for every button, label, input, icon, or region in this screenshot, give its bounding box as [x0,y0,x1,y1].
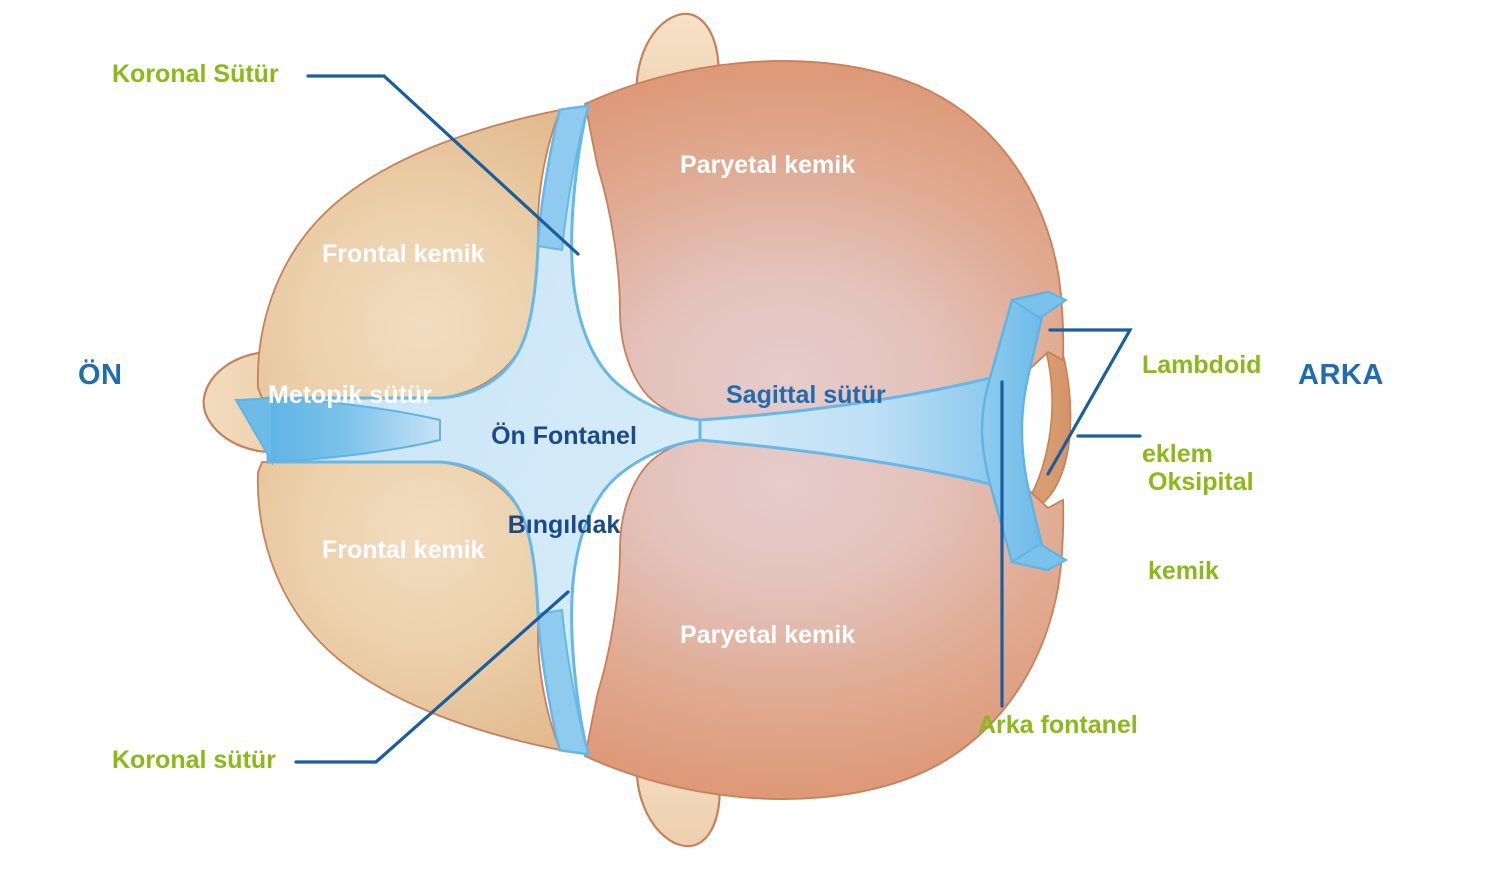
label-parietal-bone-bottom: Paryetal kemik [680,621,855,651]
infant-skull-illustration [0,0,1494,872]
label-anterior-fontanelle-line2: Bıngıldak [466,511,662,541]
label-coronal-suture-top: Koronal Sütür [112,60,279,90]
label-occipital-line2: kemik [1148,557,1254,587]
label-occipital-bone: Oksipital kemik [1148,409,1254,645]
label-orientation-back: ARKA [1298,358,1384,392]
label-frontal-bone-top: Frontal kemik [322,240,485,270]
label-anterior-fontanelle-line1: Ön Fontanel [466,422,662,452]
label-lambdoid-line1: Lambdoid [1142,351,1261,381]
label-coronal-suture-bottom: Koronal sütür [112,746,276,776]
diagram-canvas: Koronal Sütür Koronal sütür Frontal kemi… [0,0,1494,872]
label-orientation-front: ÖN [78,358,123,392]
label-metopic-suture: Metopik sütür [268,381,432,411]
label-occipital-line1: Oksipital [1148,468,1254,498]
label-frontal-bone-bottom: Frontal kemik [322,536,485,566]
label-posterior-fontanelle: Arka fontanel [978,711,1138,741]
label-anterior-fontanelle: Ön Fontanel Bıngıldak [466,363,662,599]
label-sagittal-suture: Sagittal sütür [726,381,886,411]
label-parietal-bone-top: Paryetal kemik [680,151,855,181]
